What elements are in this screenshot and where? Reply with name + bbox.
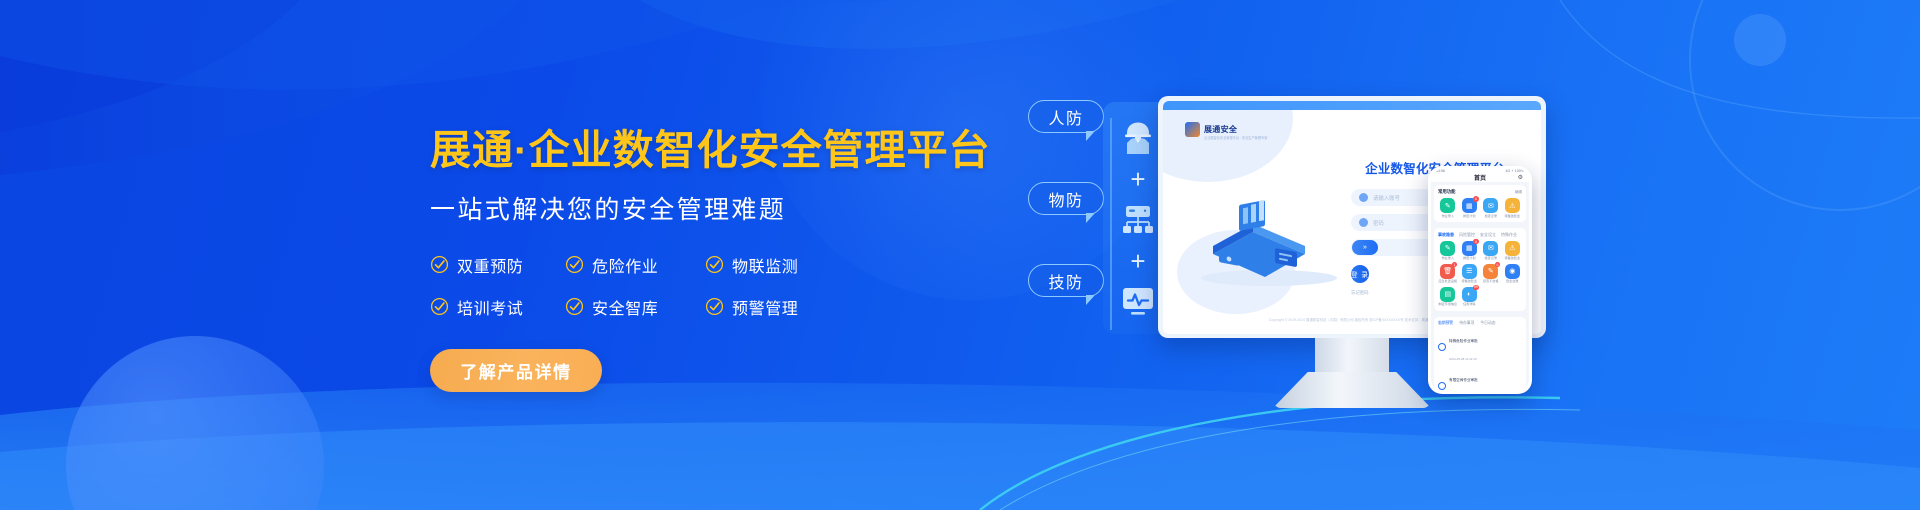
common-functions-card: 常用功能 编辑 ✎ 作业录入 ▦ 6 排查计划 xyxy=(1434,185,1526,222)
app-label: 排查计划 xyxy=(1463,215,1475,218)
app-tile[interactable]: ◉ 隐患台账 xyxy=(1503,264,1523,284)
check-circle-icon xyxy=(430,255,449,274)
page-title: 展通·企业数智化安全管理平台 xyxy=(430,128,990,174)
app-tile[interactable]: ✎ 6 复查不合格 xyxy=(1481,264,1501,284)
notice-tab[interactable]: 待办事项 xyxy=(1459,321,1474,326)
feature-item: 危险作业 xyxy=(565,253,705,277)
app-label: 检查记录 xyxy=(1485,257,1497,260)
phone-nav-title: 首页 xyxy=(1474,173,1486,182)
app-tile[interactable]: ▦ 6 排查计划 xyxy=(1460,241,1480,261)
app-tile[interactable]: ✉ 检查记录 xyxy=(1481,241,1501,261)
forgot-password-link[interactable]: 忘记密码 xyxy=(1351,290,1369,296)
app-grid: ✎ 作业录入 ▦ 6 排查计划 ✉ 检查记录 xyxy=(1438,198,1522,218)
section-header: 常用功能 编辑 xyxy=(1438,189,1522,195)
ledger-icon: ◉ xyxy=(1505,264,1520,279)
defense-tag-label: 人防 xyxy=(1048,105,1083,129)
lock-icon xyxy=(1359,218,1368,227)
mobile-phone-mockup: 13:56 4G ⚡ 100% 首页 ⚙ 常用功能 编辑 ✎ 作业录 xyxy=(1428,166,1532,394)
record-icon: ✉ xyxy=(1483,198,1498,213)
decorative-blob xyxy=(1163,110,1293,182)
edit-icon: ✎ xyxy=(1440,241,1455,256)
list-item[interactable]: 有限空间作业审批 2024-05-08 11:40:15 xyxy=(1438,368,1522,391)
product-artwork: 人防 物防 技防 + xyxy=(1010,0,1920,510)
app-label: 待整改隐患 xyxy=(1505,257,1520,260)
app-label: 排查计划 xyxy=(1463,257,1475,260)
phone-screen: 13:56 4G ⚡ 100% 首页 ⚙ 常用功能 编辑 ✎ 作业录 xyxy=(1431,169,1529,391)
app-label: 制证环境信息 xyxy=(1438,303,1457,306)
app-label: 待整改隐患 xyxy=(1462,280,1477,283)
list-item-text: 有限空间作业审批 2024-05-08 11:40:15 xyxy=(1449,368,1522,391)
status-dot-icon xyxy=(1438,382,1446,390)
login-button[interactable]: 登 录 xyxy=(1351,265,1369,283)
feature-label: 物联监测 xyxy=(732,253,798,277)
password-placeholder: 密码 xyxy=(1373,219,1384,227)
feature-label: 预警管理 xyxy=(732,295,798,319)
defense-tag-label: 物防 xyxy=(1048,187,1083,211)
defense-tag-label: 技防 xyxy=(1048,269,1083,293)
username-placeholder: 请输入账号 xyxy=(1373,194,1400,202)
feature-item: 安全智库 xyxy=(565,295,705,319)
app-tile[interactable]: ✎ 作业录入 xyxy=(1438,241,1458,261)
app-tile[interactable]: ☰ 待整改隐患 xyxy=(1460,264,1480,284)
user-icon xyxy=(1359,193,1368,202)
app-tile[interactable]: ✉ 检查记录 xyxy=(1481,198,1501,218)
tab-item[interactable]: 特殊作业 xyxy=(1501,232,1517,238)
notice-tabs: 临期预警 待办事项 今日动态 xyxy=(1438,321,1522,326)
brand-tagline: 企业数智化安全管理平台 · 安全生产管理专家 xyxy=(1204,135,1267,140)
feature-label: 培训考试 xyxy=(457,295,523,319)
feature-item: 双重预防 xyxy=(430,253,565,277)
cert-icon: ▤ xyxy=(1440,287,1455,302)
badge-count: 99 xyxy=(1473,285,1479,291)
check-circle-icon xyxy=(565,255,584,274)
hazard-card: 事故隐患 风险管控 安全设立 特殊作业 ✎ 作业录入 ▦ 6 xyxy=(1434,228,1526,311)
captcha-knob-icon[interactable]: » xyxy=(1352,240,1378,255)
tab-item[interactable]: 风险管控 xyxy=(1459,232,1475,238)
brand-name: 展通安全 xyxy=(1204,124,1237,135)
app-label: 作业录入 xyxy=(1442,215,1454,218)
app-tile[interactable]: ▤ 制证环境信息 xyxy=(1438,287,1458,307)
tab-item[interactable]: 安全设立 xyxy=(1480,232,1496,238)
notice-tab[interactable]: 临期预警 xyxy=(1438,321,1453,326)
badge-count: 6 xyxy=(1495,262,1501,268)
feature-label: 安全智库 xyxy=(592,295,658,319)
app-tile[interactable]: 🗑 1 应急处置设施 xyxy=(1438,264,1458,284)
defense-tag-wufang[interactable]: 物防 xyxy=(1028,182,1104,215)
app-label: 待整改隐患 xyxy=(1505,215,1520,218)
app-tile[interactable]: ⚠ 待整改隐患 xyxy=(1503,198,1523,218)
learn-more-button[interactable]: 了解产品详情 xyxy=(430,349,602,392)
check-circle-icon xyxy=(705,297,724,316)
section-edit-link[interactable]: 编辑 xyxy=(1515,190,1522,195)
status-dot-icon xyxy=(1438,343,1446,351)
warning-icon: ⚠ xyxy=(1505,198,1520,213)
monitor-stand-neck xyxy=(1315,338,1389,372)
app-tile[interactable]: ⚠ 待整改隐患 xyxy=(1503,241,1523,261)
feature-list: 双重预防 危险作业 物联监测 xyxy=(430,253,850,319)
monitor-stand-base xyxy=(1273,372,1431,408)
notice-tab[interactable]: 今日动态 xyxy=(1480,321,1495,326)
recheck-icon: ✎ 6 xyxy=(1483,264,1498,279)
check-circle-icon xyxy=(565,297,584,316)
defense-tag-renfang[interactable]: 人防 xyxy=(1028,100,1104,133)
badge-count: 1 xyxy=(1452,262,1458,268)
list-item-text: 特殊危险作业审批 2024-05-08 11:42:19 xyxy=(1449,329,1522,365)
fire-icon: 🗑 1 xyxy=(1440,264,1455,279)
app-label: 应急处置设施 xyxy=(1438,280,1457,283)
hazard-app-grid: ✎ 作业录入 ▦ 6 排查计划 ✉ 检查记录 xyxy=(1438,241,1522,307)
list-item-time: 2024-05-08 11:42:19 xyxy=(1449,357,1477,361)
list-item-title: 特殊危险作业审批 xyxy=(1449,339,1478,343)
check-circle-icon xyxy=(430,297,449,316)
record-icon: ✉ xyxy=(1483,241,1498,256)
section-title: 常用功能 xyxy=(1438,189,1456,195)
list-item[interactable]: 特殊危险作业审批 2024-05-08 11:42:19 xyxy=(1438,329,1522,365)
app-label: 检查记录 xyxy=(1485,215,1497,218)
feature-item: 物联监测 xyxy=(705,253,845,277)
feature-label: 危险作业 xyxy=(592,253,658,277)
feature-item: 预警管理 xyxy=(705,295,845,319)
feature-item: 培训考试 xyxy=(430,295,565,319)
app-label: 作业录入 xyxy=(1442,257,1454,260)
gear-icon[interactable]: ⚙ xyxy=(1518,174,1523,181)
page-subtitle: 一站式解决您的安全管理难题 xyxy=(430,190,990,226)
tab-active[interactable]: 事故隐患 xyxy=(1438,232,1454,238)
plan-icon: ▦ 6 xyxy=(1462,241,1477,256)
feature-label: 双重预防 xyxy=(457,253,523,277)
badge-count: 6 xyxy=(1473,239,1479,245)
list-item-title: 有限空间作业审批 xyxy=(1449,378,1478,382)
app-label: 任务详情 xyxy=(1463,303,1475,306)
hero-banner: 展通·企业数智化安全管理平台 一站式解决您的安全管理难题 双重预防 危险作业 xyxy=(0,0,1920,510)
app-label: 复查不合格 xyxy=(1483,280,1498,283)
app-tile[interactable]: ▦ 6 排查计划 xyxy=(1460,198,1480,218)
defense-tag-jifang[interactable]: 技防 xyxy=(1028,264,1104,297)
hazard-tabs: 事故隐患 风险管控 安全设立 特殊作业 xyxy=(1438,232,1522,238)
check-circle-icon xyxy=(705,255,724,274)
edit-icon: ✎ xyxy=(1440,198,1455,213)
phone-nav-bar: 首页 ⚙ xyxy=(1431,173,1529,182)
app-tile[interactable]: ◐ 99 任务详情 xyxy=(1460,287,1480,307)
datacenter-illustration xyxy=(1193,192,1343,288)
notice-list-card: 临期预警 待办事项 今日动态 特殊危险作业审批 2024-05-08 11:42… xyxy=(1434,317,1526,391)
hero-copy: 展通·企业数智化安全管理平台 一站式解决您的安全管理难题 双重预防 危险作业 xyxy=(430,128,990,392)
badge-count: 6 xyxy=(1473,196,1479,202)
plan-icon: ▦ 6 xyxy=(1462,198,1477,213)
app-label: 隐患台账 xyxy=(1506,280,1518,283)
task-icon: ◐ 99 xyxy=(1462,287,1477,302)
brand-mark-icon xyxy=(1185,122,1200,137)
screen-topbar xyxy=(1163,101,1541,110)
warning-icon: ⚠ xyxy=(1505,241,1520,256)
list-icon: ☰ xyxy=(1462,264,1477,279)
app-tile[interactable]: ✎ 作业录入 xyxy=(1438,198,1458,218)
